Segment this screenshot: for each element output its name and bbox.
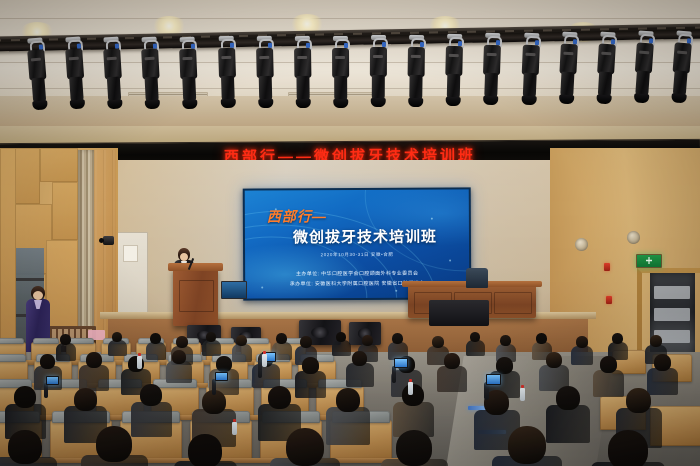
audience-member-head [74, 388, 97, 411]
audience-member-head [650, 335, 662, 347]
door-sign [123, 245, 138, 262]
audience-member-head [140, 384, 162, 406]
water-bottle [408, 382, 413, 395]
slide-title-main: 微创拔牙技术培训班 [293, 226, 437, 248]
audience-member-head [576, 336, 588, 348]
audience-member-head [216, 356, 232, 372]
stage-light [669, 40, 693, 105]
audience-member-body [252, 364, 280, 388]
fire-alarm-icon-2 [606, 296, 612, 304]
phone-screen [215, 372, 228, 381]
audience-member-head [508, 426, 546, 464]
phone-screen [394, 358, 408, 368]
audience-member-body [131, 402, 172, 437]
audience-member-head [40, 354, 55, 369]
audience-member-head [500, 335, 511, 346]
audience-member-body [346, 363, 374, 387]
audience-member-head [276, 333, 287, 344]
audience-member-body [232, 344, 252, 362]
audience-member-head [470, 332, 480, 342]
audience-member-head [172, 350, 186, 364]
audience-member-head [392, 333, 403, 344]
water-bottle [232, 422, 237, 435]
audience-member-head [402, 384, 424, 406]
stage-chair [466, 268, 488, 288]
audience-member-body [571, 346, 593, 365]
audience-member-head [496, 357, 513, 374]
audience-member-head [302, 357, 319, 374]
podium-top [168, 263, 223, 271]
audience-member-head [336, 332, 346, 342]
stage-light [556, 42, 578, 107]
audience-member-head [86, 352, 102, 368]
audience-member-head [8, 430, 42, 464]
audience-member-body [593, 370, 624, 397]
audience-member-head [176, 336, 188, 348]
audience-member-body [79, 365, 109, 391]
audience-member-body [202, 340, 221, 356]
slide-date: 2020年10月30-31日 安徽•合肥 [245, 251, 469, 258]
audience-member-head [352, 351, 367, 366]
water-bottle [262, 354, 267, 367]
audience-member-head [300, 336, 312, 348]
audience-member-head [612, 333, 623, 344]
camera-icon [103, 236, 114, 245]
audience [0, 330, 700, 466]
stage-light [64, 47, 87, 112]
exit-sign-icon [636, 254, 662, 268]
stage-light [519, 42, 541, 107]
stage-light [631, 40, 654, 105]
water-bottle [520, 388, 525, 401]
stage-light [178, 46, 200, 111]
audience-member-head [150, 333, 161, 344]
audience-member-head [600, 356, 617, 373]
stage-light [369, 45, 388, 109]
audience-member-body [108, 340, 127, 356]
audience-member-head [112, 332, 122, 342]
stage-light [331, 46, 350, 110]
stage-light [406, 44, 426, 108]
audience-member-head [188, 434, 222, 466]
stage-light [217, 46, 238, 111]
stage-light [26, 47, 50, 112]
audience-member-head [268, 386, 291, 409]
fire-alarm-icon-1 [604, 263, 610, 271]
stage-light [102, 46, 125, 111]
raised-arm [44, 383, 48, 398]
slide-title-accent: 西部行— [267, 206, 327, 226]
stage-light [255, 46, 275, 110]
raised-arm [392, 366, 396, 383]
phone-screen [46, 376, 59, 385]
audience-member-body [146, 342, 166, 360]
auditorium-photo: 西部行——微创拔牙技术培训班 [0, 0, 700, 466]
phone-screen [486, 374, 501, 385]
raised-arm [212, 379, 216, 395]
stage-light [594, 41, 617, 106]
audience-member-head [60, 334, 71, 345]
audience-member-body [546, 405, 590, 443]
stage-light [293, 46, 313, 110]
audience-member-head [14, 386, 36, 408]
slide-organizer-1: 主办单位: 中华口腔医学会口腔颌面外科专业委员会 [245, 269, 469, 277]
audience-member-head [286, 428, 324, 466]
audience-member-head [546, 352, 562, 368]
audience-member-head [654, 354, 671, 371]
audience-member-body [295, 371, 326, 398]
audience-member-body [326, 407, 370, 445]
audience-member-head [336, 388, 360, 412]
audience-member-body [166, 361, 192, 383]
audience-member-head [432, 336, 444, 348]
stage-monitor-bank [429, 300, 489, 326]
wall-speaker-1 [575, 238, 588, 251]
stage-light [140, 46, 162, 111]
audience-member-body [647, 368, 678, 395]
audience-member-body [437, 366, 467, 392]
audience-member-head [362, 335, 373, 346]
audience-member-head [536, 333, 547, 344]
stage-light [481, 43, 502, 108]
audience-member-head [206, 332, 216, 342]
wall-speaker-2 [627, 231, 640, 244]
stage-light-row [0, 0, 700, 130]
stage-light [444, 44, 464, 108]
water-bottle [137, 356, 142, 369]
audience-member-body [56, 343, 76, 361]
audience-member-head [96, 426, 132, 462]
audience-member-head [396, 430, 432, 466]
audience-member-head [236, 335, 247, 346]
audience-member-head [626, 388, 651, 413]
audience-member-head [608, 430, 648, 466]
audience-member-head [444, 353, 460, 369]
podium-monitor [221, 281, 247, 299]
audience-member-body [332, 340, 351, 356]
podium [173, 268, 218, 326]
audience-member-head [556, 386, 580, 410]
audience-member-body [466, 340, 485, 356]
